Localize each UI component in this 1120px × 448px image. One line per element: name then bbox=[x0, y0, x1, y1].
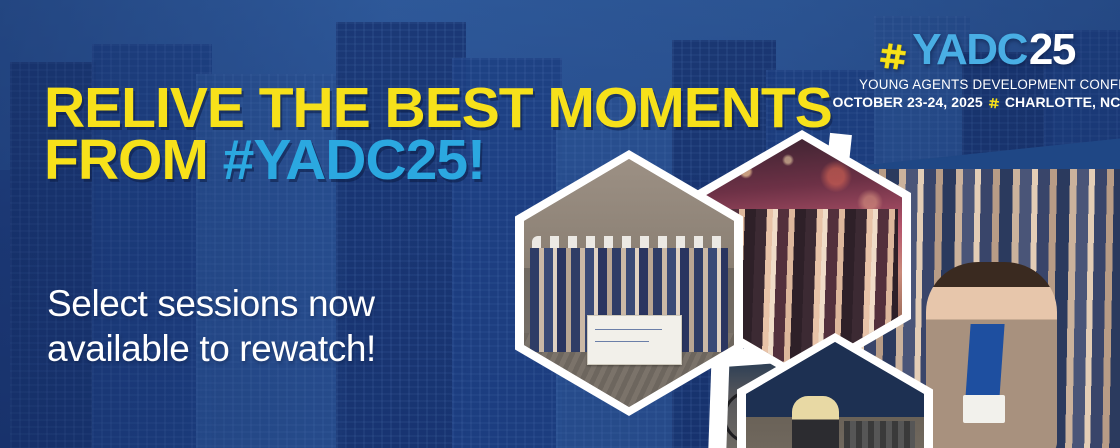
subheading-line-1: Select sessions now bbox=[47, 281, 376, 326]
logo-date-location: OCTOBER 23-24, 2025 CHARLOTTE, NC bbox=[859, 94, 1094, 110]
banner-subheading: Select sessions now available to rewatch… bbox=[47, 281, 376, 371]
cyan-accent-band bbox=[0, 208, 512, 254]
logo-text-year: 25 bbox=[1029, 28, 1075, 72]
logo-wordmark: YADC25 bbox=[859, 28, 1094, 72]
yadc25-promo-banner: RELIVE THE BEST MOMENTS FROM #YADC25! Se… bbox=[0, 0, 1120, 448]
headline-line-1: RELIVE THE BEST MOMENTS bbox=[44, 82, 824, 134]
logo-location: CHARLOTTE, NC bbox=[1005, 94, 1120, 110]
lanyard bbox=[966, 324, 1005, 398]
headline-hashtag-highlight: #YADC25! bbox=[223, 128, 485, 192]
logo-date: OCTOBER 23-24, 2025 bbox=[833, 94, 983, 110]
logo-subtitle: YOUNG AGENTS DEVELOPMENT CONFERENCE bbox=[859, 77, 1094, 92]
logo-text-yadc: YADC bbox=[912, 28, 1027, 72]
standing-attendee bbox=[792, 396, 838, 448]
hashtag-separator-icon bbox=[988, 96, 1000, 108]
hashtag-icon bbox=[878, 35, 908, 65]
name-badge bbox=[963, 395, 1006, 423]
headline-line-2-prefix: FROM bbox=[44, 128, 223, 192]
av-equipment bbox=[844, 421, 915, 448]
photo-collage bbox=[505, 138, 1120, 448]
yadc25-logo: YADC25 YOUNG AGENTS DEVELOPMENT CONFEREN… bbox=[859, 28, 1094, 110]
oversized-donation-check bbox=[587, 315, 682, 365]
subheading-line-2: available to rewatch! bbox=[47, 326, 376, 371]
